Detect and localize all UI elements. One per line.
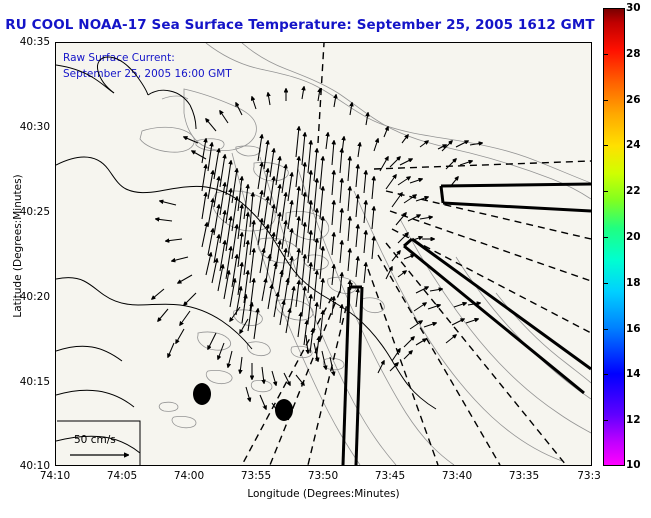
cbtick-8: 14: [626, 368, 641, 380]
ytick-5: 40:10: [8, 460, 50, 472]
map-graphics: 50 cm/s: [56, 43, 591, 465]
figure-title: RU COOL NOAA-17 Sea Surface Temperature:…: [0, 17, 600, 33]
plot-area[interactable]: Raw Surface Current: September 25, 2005 …: [55, 42, 592, 466]
ytick-4: 40:15: [8, 376, 50, 388]
xtick-1: 74:05: [107, 470, 137, 482]
xtick-2: 74:00: [174, 470, 204, 482]
x-axis-label: Longitude (Degrees:Minutes): [55, 488, 592, 500]
scale-legend-label: 50 cm/s: [74, 434, 116, 446]
xtick-3: 73:55: [241, 470, 271, 482]
xtick-6: 73:40: [442, 470, 472, 482]
radar-station-marker: [275, 399, 293, 421]
cbtick-3: 24: [626, 139, 641, 151]
y-axis-label: Latitude (Degrees:Minutes): [12, 156, 24, 336]
xtick-8: 73:3: [577, 470, 601, 482]
xtick-5: 73:45: [375, 470, 405, 482]
cbtick-9: 12: [626, 414, 641, 426]
cbtick-10: 10: [626, 459, 641, 471]
cbtick-2: 26: [626, 94, 641, 106]
cbtick-6: 18: [626, 277, 641, 289]
xtick-7: 73:35: [509, 470, 539, 482]
radar-radial-lines: [242, 43, 591, 465]
ytick-1: 40:30: [8, 121, 50, 133]
radar-station-markers: [193, 383, 293, 421]
ytick-0: 40:35: [8, 36, 50, 48]
cbtick-1: 28: [626, 48, 641, 60]
cbtick-7: 16: [626, 323, 641, 335]
cbtick-0: 30: [626, 2, 641, 14]
xtick-4: 73:50: [308, 470, 338, 482]
cbtick-4: 22: [626, 185, 641, 197]
sst-map-figure: RU COOL NOAA-17 Sea Surface Temperature:…: [0, 0, 651, 518]
radar-station-marker: [193, 383, 211, 405]
cbtick-5: 20: [626, 231, 641, 243]
